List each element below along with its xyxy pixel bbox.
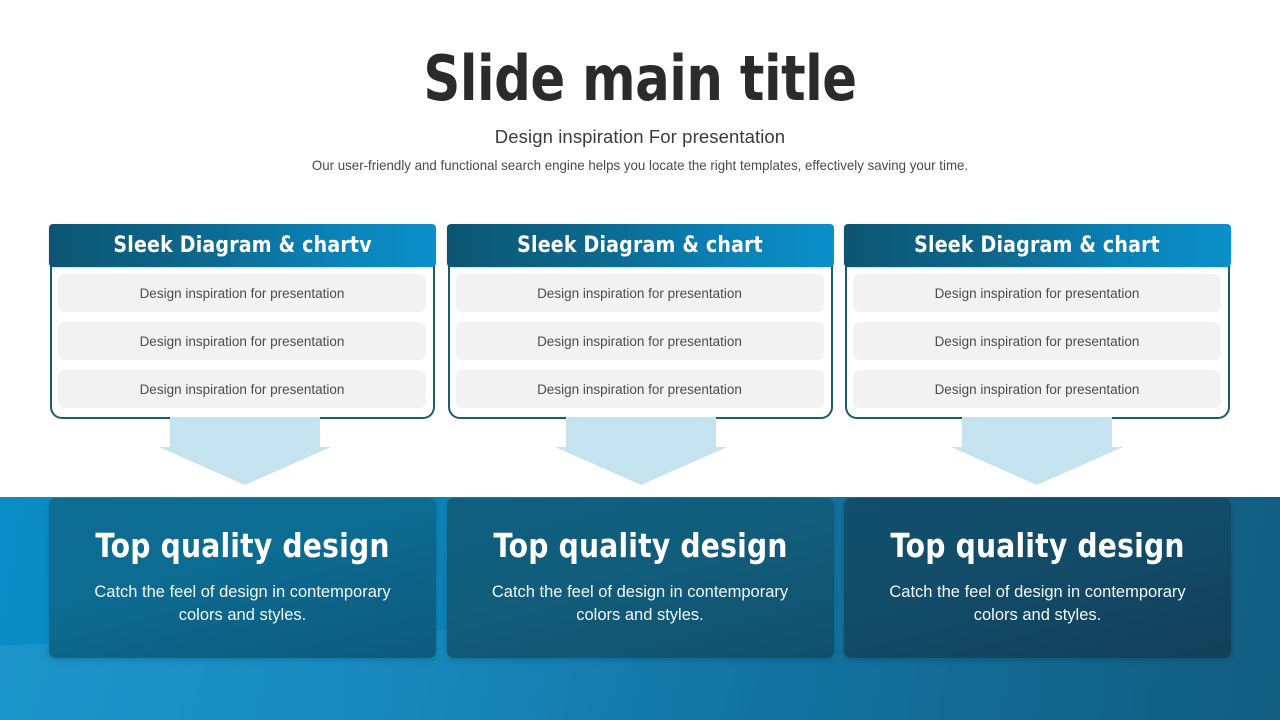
list-item-label: Design inspiration for presentation [935,334,1140,349]
column-3-list: Design inspiration for presentation Desi… [853,274,1221,408]
list-item-label: Design inspiration for presentation [140,382,345,397]
list-item[interactable]: Design inspiration for presentation [58,322,426,360]
column-group: Sleek Diagram & chartv Design inspiratio… [49,224,1231,420]
list-item[interactable]: Design inspiration for presentation [456,370,824,408]
card-3-title: Top quality design [875,528,1201,564]
card-group: Top quality design Catch the feel of des… [49,498,1231,658]
list-item-label: Design inspiration for presentation [537,286,742,301]
down-arrow-icon [951,417,1123,485]
page-subtitle: Design inspiration For presentation [0,126,1280,148]
column-2-header-label: Sleek Diagram & chart [517,233,763,258]
list-item-label: Design inspiration for presentation [140,334,345,349]
list-item[interactable]: Design inspiration for presentation [58,274,426,312]
column-2: Sleek Diagram & chart Design inspiration… [447,224,834,420]
slide-canvas: Slide main title Design inspiration For … [0,0,1280,720]
column-3-header[interactable]: Sleek Diagram & chart [844,224,1231,267]
list-item-label: Design inspiration for presentation [935,382,1140,397]
list-item-label: Design inspiration for presentation [537,334,742,349]
column-2-header[interactable]: Sleek Diagram & chart [447,224,834,267]
card-2-title: Top quality design [477,528,803,564]
column-1: Sleek Diagram & chartv Design inspiratio… [49,224,436,420]
column-3-header-label: Sleek Diagram & chart [915,233,1161,258]
down-arrow-icon [159,417,331,485]
column-3: Sleek Diagram & chart Design inspiration… [844,224,1231,420]
list-item-label: Design inspiration for presentation [140,286,345,301]
card-1-title: Top quality design [80,528,406,564]
column-1-list: Design inspiration for presentation Desi… [58,274,426,408]
card-2-body: Catch the feel of design in contemporary… [469,581,812,627]
card-1-body: Catch the feel of design in contemporary… [71,581,414,627]
list-item-label: Design inspiration for presentation [935,286,1140,301]
card-3[interactable]: Top quality design Catch the feel of des… [844,498,1231,658]
down-arrow-icon [555,417,727,485]
column-1-header[interactable]: Sleek Diagram & chartv [49,224,436,267]
card-1[interactable]: Top quality design Catch the feel of des… [49,498,436,658]
list-item[interactable]: Design inspiration for presentation [58,370,426,408]
column-2-list: Design inspiration for presentation Desi… [456,274,824,408]
card-3-body: Catch the feel of design in contemporary… [866,581,1209,627]
list-item[interactable]: Design inspiration for presentation [853,322,1221,360]
list-item[interactable]: Design inspiration for presentation [456,322,824,360]
list-item[interactable]: Design inspiration for presentation [456,274,824,312]
card-2[interactable]: Top quality design Catch the feel of des… [447,498,834,658]
list-item[interactable]: Design inspiration for presentation [853,274,1221,312]
column-1-header-label: Sleek Diagram & chartv [113,233,371,258]
page-title: Slide main title [51,44,1229,114]
list-item[interactable]: Design inspiration for presentation [853,370,1221,408]
page-description: Our user-friendly and functional search … [32,157,1248,173]
list-item-label: Design inspiration for presentation [537,382,742,397]
slide-header: Slide main title Design inspiration For … [0,44,1280,173]
